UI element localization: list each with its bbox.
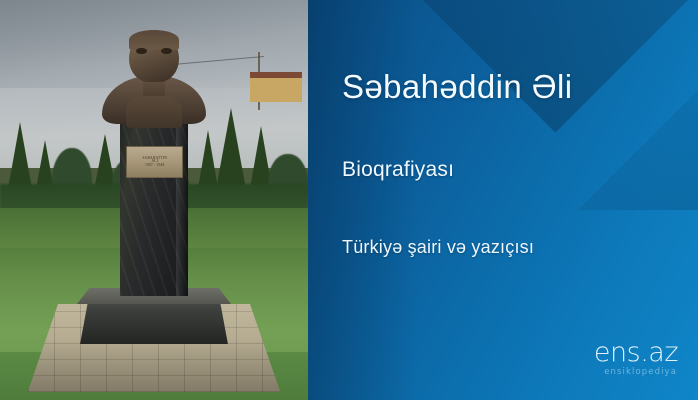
monument-plaque: SABAHATTIN ALİ 1907 - 1948 [126,146,183,178]
site-logo-name: ens.az [594,339,678,366]
page-subtitle: Bioqrafiyası [342,158,454,182]
page-tagline: Türkiyə şairi və yazıçısı [342,237,534,258]
page-title: Səbahəddin Əli [342,68,572,106]
title-panel: Səbahəddin Əli Bioqrafiyası Türkiyə şair… [308,0,698,400]
plaque-dates: 1907 - 1948 [145,164,165,168]
bust-chest [126,96,181,128]
site-logo[interactable]: ens.az ensiklopediya [558,332,678,376]
monument-photo: SABAHATTIN ALİ 1907 - 1948 [0,0,308,400]
bust-hair [129,30,178,50]
site-logo-tagline: ensiklopediya [604,368,677,377]
info-card: SABAHATTIN ALİ 1907 - 1948 Səbahəddin Əl… [0,0,698,400]
house-building [250,72,302,102]
